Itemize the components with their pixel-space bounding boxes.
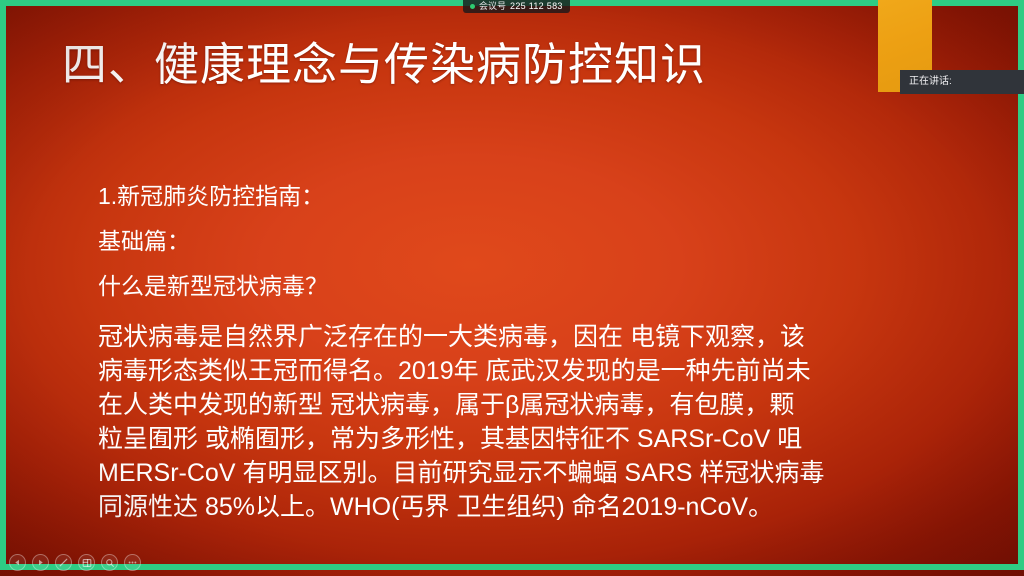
speaking-status-label: 正在讲话: — [909, 70, 952, 94]
grid-slides-icon — [82, 558, 92, 568]
meeting-id-pill[interactable]: 会议号 225 112 583 — [463, 0, 570, 13]
speaking-status-bar: 正在讲话: — [900, 70, 1024, 94]
pen-annotation-button[interactable] — [55, 554, 72, 571]
paragraph-line: 在人类中发现的新型 冠状病毒，属于β属冠状病毒，有包膜，颗 — [98, 388, 858, 422]
meeting-screen-share: 四、健康理念与传染病防控知识 1.新冠肺炎防控指南： 基础篇： 什么是新型冠状病… — [0, 0, 1024, 576]
ppt-toolbar — [9, 554, 141, 571]
slide-body: 1.新冠肺炎防控指南： 基础篇： 什么是新型冠状病毒？ 冠状病毒是自然界广泛存在… — [98, 174, 888, 524]
slide-subheading: 基础篇： — [98, 219, 888, 264]
triangle-left-icon — [13, 558, 22, 567]
paragraph-line: 同源性达 85%以上。WHO(丐界 卫生组织) 命名2019-nCoV。 — [98, 490, 858, 524]
paragraph-line: MERSr-CoV 有明显区别。目前研究显示不蝙蝠 SARS 样冠状病毒 — [98, 456, 858, 490]
slide-subheading: 1.新冠肺炎防控指南： — [98, 174, 888, 219]
slide-subheading: 什么是新型冠状病毒？ — [98, 264, 888, 309]
paragraph-line: 冠状病毒是自然界广泛存在的一大类病毒，因在 电镜下观察，该 — [98, 320, 858, 354]
ellipsis-icon — [127, 557, 138, 568]
previous-slide-button[interactable] — [9, 554, 26, 571]
triangle-right-icon — [36, 558, 45, 567]
paragraph-line: 粒呈囿形 或椭囿形，常为多形性，其基因特征不 SARSr-CoV 咀 — [98, 422, 858, 456]
green-dot-icon — [470, 4, 475, 9]
zoom-button[interactable] — [101, 554, 118, 571]
meeting-id-label: 会议号 — [479, 0, 506, 13]
slide-paragraph: 冠状病毒是自然界广泛存在的一大类病毒，因在 电镜下观察，该 病毒形态类似王冠而得… — [98, 320, 858, 524]
slide-overview-button[interactable] — [78, 554, 95, 571]
meeting-id-number: 225 112 583 — [510, 0, 563, 13]
paragraph-line: 病毒形态类似王冠而得名。2019年 底武汉发现的是一种先前尚未 — [98, 354, 858, 388]
magnifier-icon — [105, 558, 115, 568]
more-options-button[interactable] — [124, 554, 141, 571]
next-slide-button[interactable] — [32, 554, 49, 571]
pen-icon — [58, 557, 69, 568]
slide-title: 四、健康理念与传染病防控知识 — [62, 36, 706, 94]
